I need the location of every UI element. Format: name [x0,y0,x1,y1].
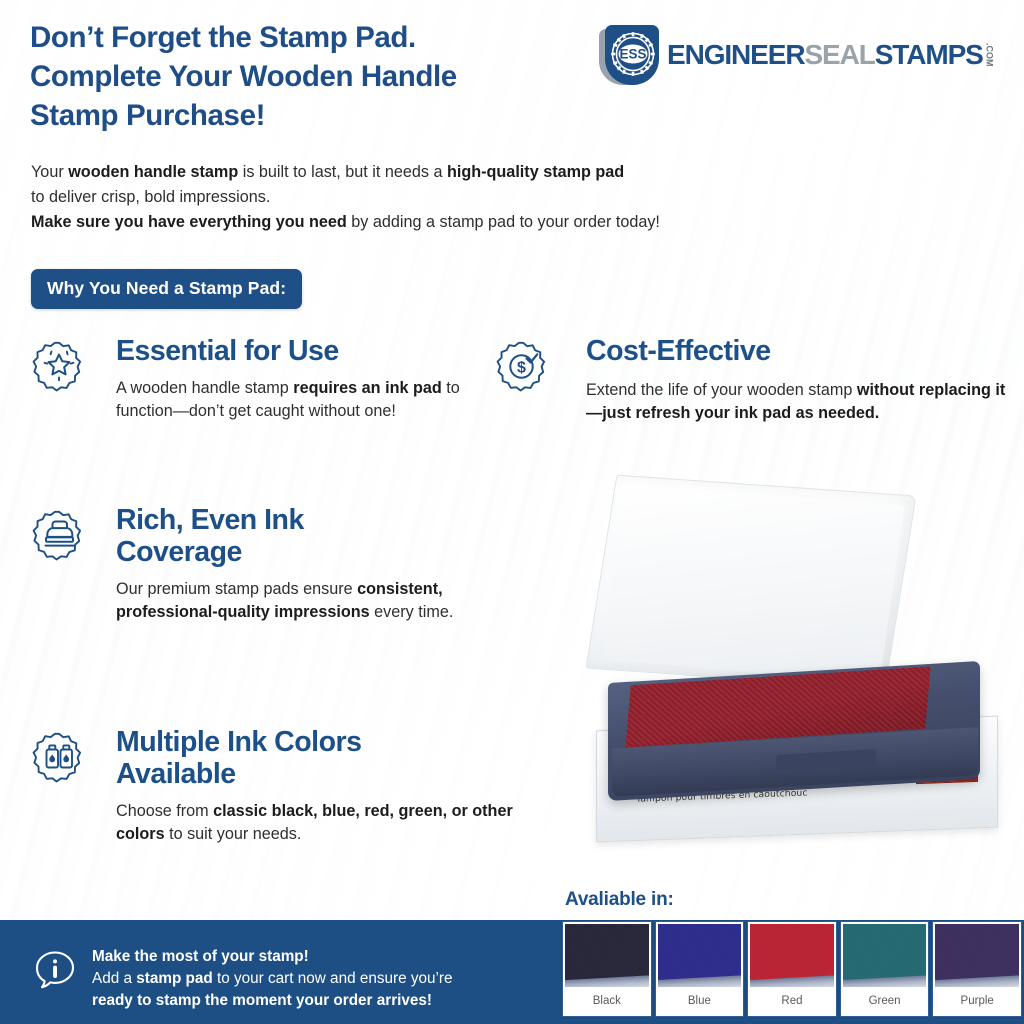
feature-description: Our premium stamp pads ensure consistent… [116,578,478,624]
swatch-color [935,924,1019,987]
swatch-blue[interactable]: Blue [656,922,744,1016]
feature-description: Choose from classic black, blue, red, gr… [116,800,538,846]
feature-rich-even-ink-coverage: Rich, Even Ink Coverage Our premium stam… [28,505,478,624]
logo-monogram: ESS [619,46,646,61]
feature-title: Cost-Effective [586,336,1012,368]
info-bubble-icon [32,948,78,994]
headline-line-2: Complete Your Wooden Handle [30,57,650,96]
swatch-label: Green [843,987,927,1014]
logo-mark: ESS [599,25,659,85]
dollar-check-badge-icon: $ [492,336,554,398]
feature-body: Multiple Ink Colors Available Choose fro… [116,727,538,846]
intro-line-1: Your wooden handle stamp is built to las… [31,160,931,185]
feature-title: Multiple Ink Colors Available [116,727,538,791]
feature-title: Essential for Use [116,336,488,368]
feature-title: Rich, Even Ink Coverage [116,505,478,569]
brand-logo[interactable]: ESS ENGINEERSEALSTAMPS .COM [599,24,995,86]
swatch-green[interactable]: Green [841,922,929,1016]
feature-title-line-1: Multiple Ink Colors [116,727,538,759]
header: Don’t Forget the Stamp Pad. Complete You… [30,18,995,143]
feature-essential-for-use: Essential for Use A wooden handle stamp … [28,336,488,423]
swatch-color [750,924,834,987]
dollar-glyph: $ [517,359,526,376]
swatch-red[interactable]: Red [748,922,836,1016]
logo-word-stamps: STAMPS [875,41,983,69]
star-badge-icon [28,336,90,398]
stamp-pad-lid-inner [601,484,904,682]
swatch-label: Black [565,987,649,1014]
footer-line-1: Make the most of your stamp! [92,946,562,968]
feature-cost-effective: $ Cost-Effective Extend the life of your… [492,336,1012,425]
headline-line-3: Stamp Purchase! [30,96,650,135]
logo-tld: .COM [985,43,994,67]
feature-body: Rich, Even Ink Coverage Our premium stam… [116,505,478,624]
feature-title-line-2: Coverage [116,537,478,569]
headline-line-1: Don’t Forget the Stamp Pad. [30,18,650,57]
footer-line-3: ready to stamp the moment your order arr… [92,990,562,1012]
swatch-purple[interactable]: Purple [933,922,1021,1016]
why-you-need-badge: Why You Need a Stamp Pad: [31,269,302,309]
swatch-label: Purple [935,987,1019,1014]
feature-multiple-ink-colors: Multiple Ink Colors Available Choose fro… [28,727,538,846]
swatch-label: Blue [658,987,742,1014]
intro-line-2: to deliver crisp, bold impressions. [31,185,931,210]
ink-bottles-badge-icon [28,727,90,789]
swatch-color [658,924,742,987]
infographic-root: Don’t Forget the Stamp Pad. Complete You… [0,0,1024,1024]
product-photo: Stamp pad for rubber stamps Almohadilla … [556,480,1024,880]
available-in-title: Avaliable in: [565,889,674,911]
intro-paragraph: Your wooden handle stamp is built to las… [31,160,931,234]
intro-line-3: Make sure you have everything you need b… [31,210,931,235]
logo-word-engineer: ENGINEER [667,41,804,69]
gear-icon: ESS [610,31,656,77]
feature-title-line-1: Rich, Even Ink [116,505,478,537]
feature-title-line-2: Available [116,759,538,791]
swatch-black[interactable]: Black [563,922,651,1016]
swatch-label: Red [750,987,834,1014]
feature-body: Cost-Effective Extend the life of your w… [586,336,1012,425]
color-swatch-list: Black Blue Red Green Purple [563,922,1021,1016]
feature-body: Essential for Use A wooden handle stamp … [116,336,488,423]
footer-line-2: Add a stamp pad to your cart now and ens… [92,968,562,990]
swatch-color [843,924,927,987]
logo-wordmark: ENGINEERSEALSTAMPS .COM [667,41,994,69]
page-title: Don’t Forget the Stamp Pad. Complete You… [30,18,650,136]
feature-description: Extend the life of your wooden stamp wit… [586,379,1012,425]
feature-description: A wooden handle stamp requires an ink pa… [116,377,488,423]
logo-word-seal: SEAL [804,41,874,69]
swatch-color [565,924,649,987]
footer-text: Make the most of your stamp! Add a stamp… [92,946,562,1012]
rubber-stamp-badge-icon [28,505,90,567]
